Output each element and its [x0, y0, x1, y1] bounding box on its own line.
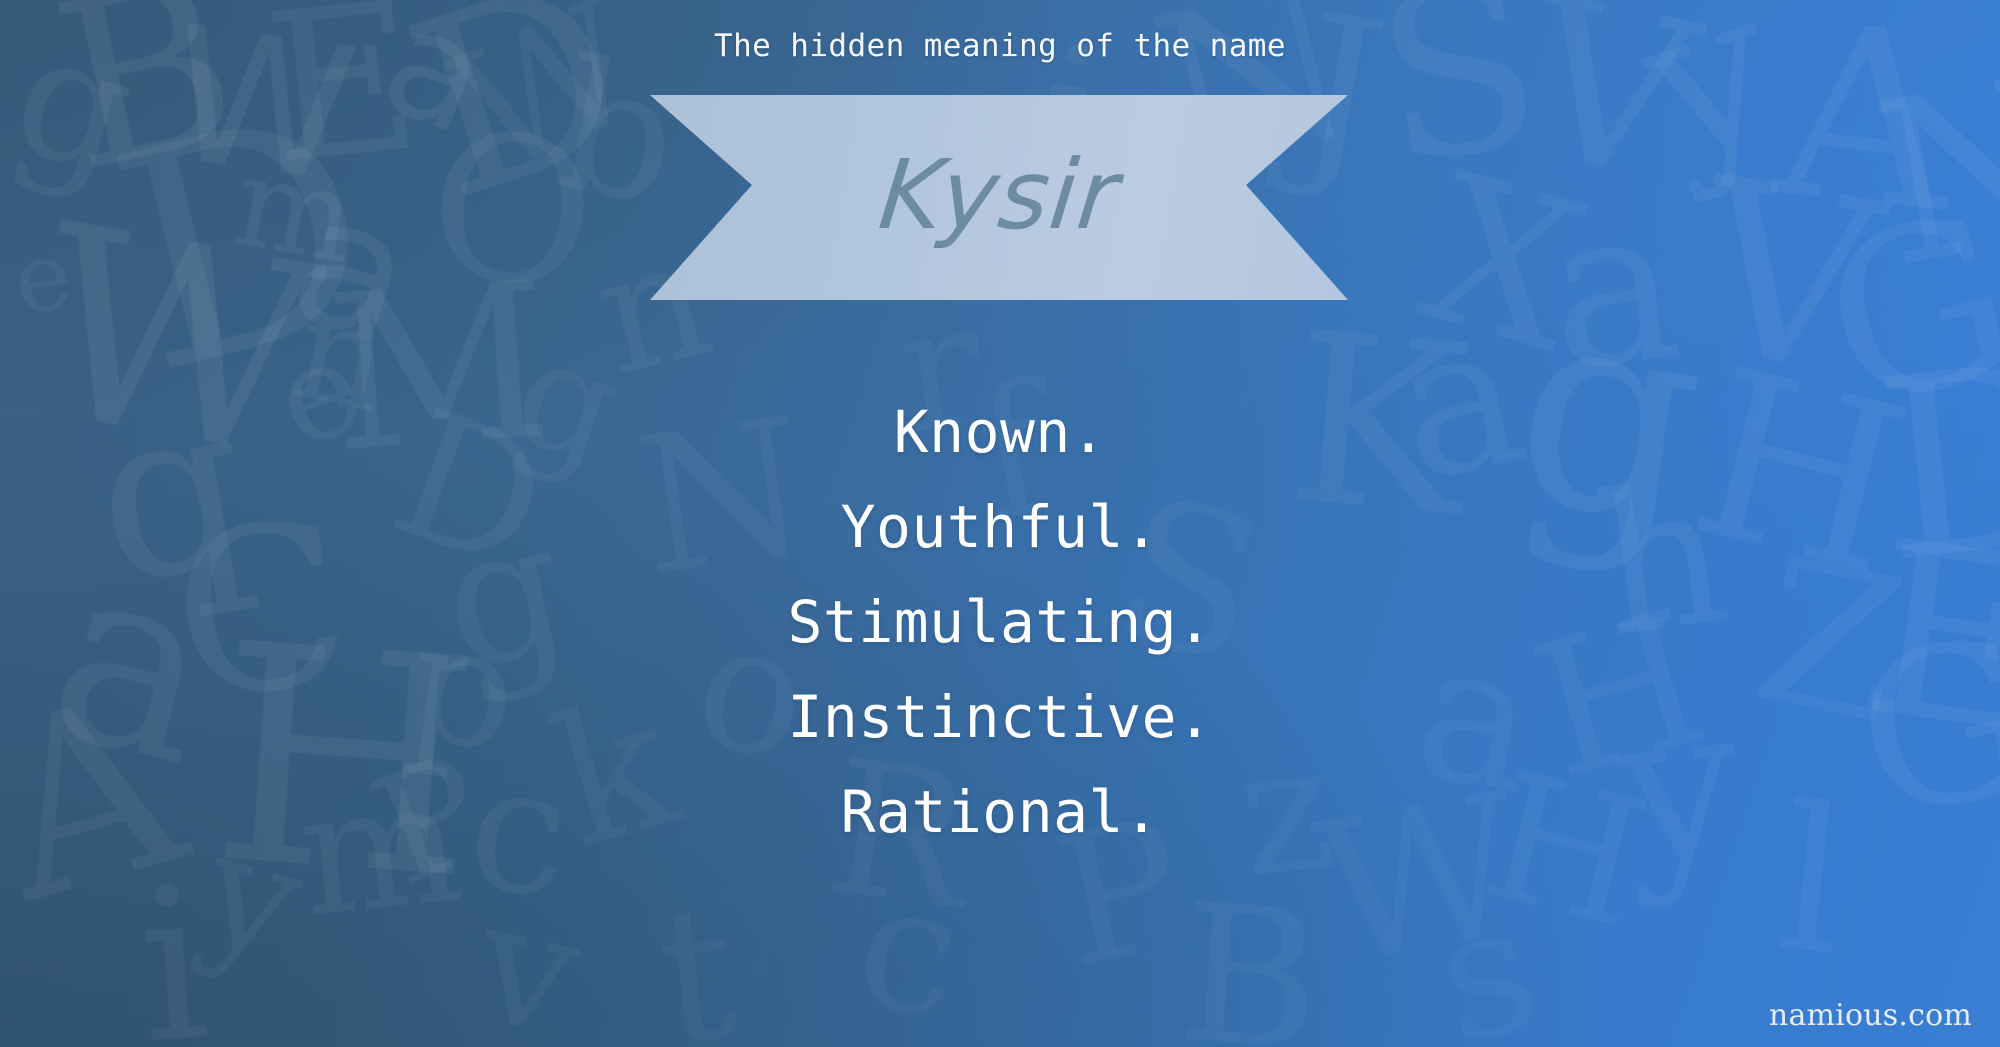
- site-watermark: namious.com: [1769, 998, 1972, 1033]
- background-letter: X: [1410, 163, 1597, 365]
- meaning-line: Known.: [0, 385, 2000, 480]
- name-meaning-card: BWgEaDmeWDaMneOqaCHADgpmyPciWbngNokRfSzj…: [0, 0, 2000, 1047]
- background-letter: a: [1541, 194, 1687, 383]
- meaning-list: Known.Youthful.Stimulating.Instinctive.R…: [0, 385, 2000, 860]
- name-banner: Kysir: [650, 95, 1348, 300]
- background-letter: t: [652, 897, 742, 1047]
- background-letter: S: [1368, 0, 1550, 179]
- background-letter: c: [850, 874, 967, 1030]
- background-letter: N: [1865, 64, 2000, 280]
- page-title: The hidden meaning of the name: [0, 28, 2000, 64]
- background-letter: m: [228, 150, 363, 272]
- background-letter: a: [278, 183, 429, 357]
- background-letter: e: [10, 236, 77, 321]
- background-letter: y: [1626, 0, 1792, 176]
- background-letter: a: [370, 0, 501, 146]
- background-letter: O: [422, 122, 602, 302]
- background-letter: i: [134, 878, 213, 1047]
- background-letter: v: [467, 892, 590, 1047]
- meaning-line: Instinctive.: [0, 670, 2000, 765]
- background-letter: B: [1175, 895, 1325, 1047]
- name-text: Kysir: [639, 95, 1359, 300]
- meaning-line: Stimulating.: [0, 575, 2000, 670]
- meaning-line: Rational.: [0, 765, 2000, 860]
- background-letter: V: [1684, 166, 1889, 390]
- background-letter: D: [99, 95, 392, 392]
- background-letter: s: [1424, 891, 1549, 1047]
- meaning-line: Youthful.: [0, 480, 2000, 575]
- background-letter: E: [260, 0, 426, 175]
